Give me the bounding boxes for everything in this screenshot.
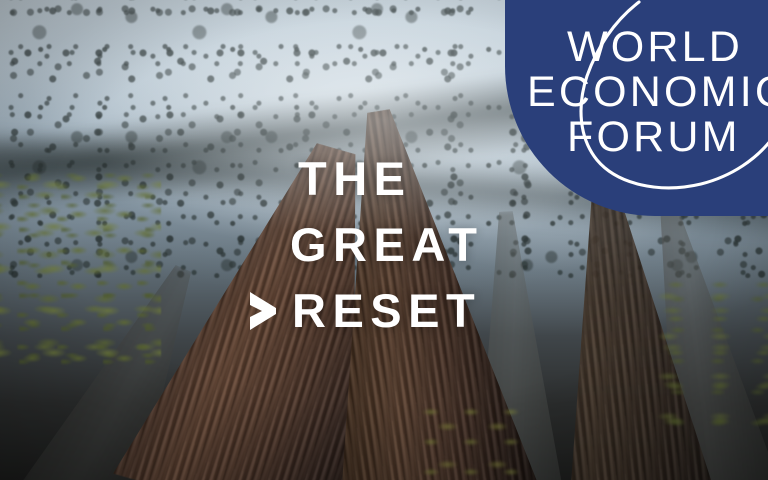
foliage-cluster-right (645, 278, 768, 441)
logo-text-forum: FORUM (567, 113, 741, 161)
foliage-cluster-left (0, 173, 161, 365)
thumbnail-stage: THE GREAT RESET WORLD ECONOMIC FORUM (0, 0, 768, 480)
title-line-reset: RESET (292, 278, 481, 344)
logo-text-economic: ECONOMIC (527, 68, 768, 116)
title-line-great: GREAT (248, 212, 548, 278)
title-lockup: THE GREAT RESET (248, 146, 548, 344)
world-economic-forum-logo-badge: WORLD ECONOMIC FORUM (505, 0, 768, 216)
title-line-the: THE (248, 146, 548, 212)
logo-text-world: WORLD (567, 23, 743, 71)
chevron-right-icon (248, 289, 278, 333)
foliage-cluster-bottom (415, 403, 538, 480)
wef-logo-artwork: WORLD ECONOMIC FORUM (505, 0, 768, 216)
title-line-reset-row: RESET (248, 278, 548, 344)
